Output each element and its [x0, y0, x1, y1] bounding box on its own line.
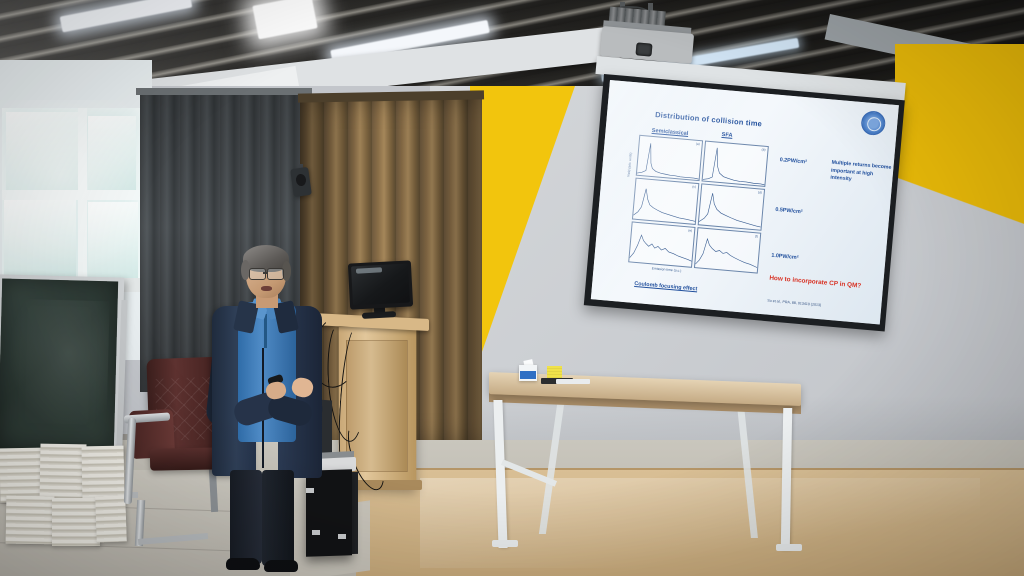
screen-glare [591, 80, 804, 324]
presenter-shoe-left [226, 558, 260, 570]
presenter-mouth [261, 286, 272, 291]
chalkboard-dust [6, 299, 109, 432]
intensity-label-2: 0.5PW/cm² [775, 207, 803, 215]
glasses-lens-left [249, 268, 266, 280]
book-stack [52, 498, 100, 546]
table-device-white[interactable] [556, 379, 590, 384]
projection-screen: Distribution of collision time Semiclass… [591, 80, 899, 324]
presenter-leg-right [262, 470, 294, 566]
presenter-shoe-right [264, 560, 298, 572]
book-stacks [0, 440, 124, 550]
glasses-lens-right [267, 268, 284, 280]
presenter-shirt-placket [264, 314, 267, 348]
slide-citation: Su et al., PRA, 88, 013410 (2013) [767, 299, 821, 308]
glasses-bridge [263, 272, 268, 274]
tissue-box-label [520, 371, 536, 379]
window-glow [0, 100, 150, 290]
slide: Distribution of collision time Semiclass… [591, 80, 899, 324]
table-foot [776, 544, 802, 551]
yellow-accent-left [470, 86, 575, 386]
curtain-rod [136, 88, 312, 95]
sticky-note-pad[interactable] [547, 366, 562, 378]
book-stack [0, 448, 44, 503]
yellow-accent-right [895, 44, 1024, 344]
presenter-leg-left [230, 470, 262, 564]
book-stack [95, 495, 127, 542]
pc-tower-latch [338, 534, 346, 539]
book-stack [39, 444, 86, 503]
book-stack [82, 446, 125, 503]
intensity-label-3: 1.0PW/cm² [771, 253, 799, 261]
institution-seal-logo [860, 110, 886, 136]
presenter [206, 248, 326, 558]
slide-right-note: Multiple returns become important at hig… [830, 160, 894, 188]
book-stack [6, 496, 55, 545]
projector-lens-icon [635, 42, 652, 56]
table-foot [492, 540, 518, 547]
slide-red-question: How to incorporate CP in QM? [769, 275, 869, 292]
lecture-hall-photo: Distribution of collision time Semiclass… [0, 0, 1024, 576]
